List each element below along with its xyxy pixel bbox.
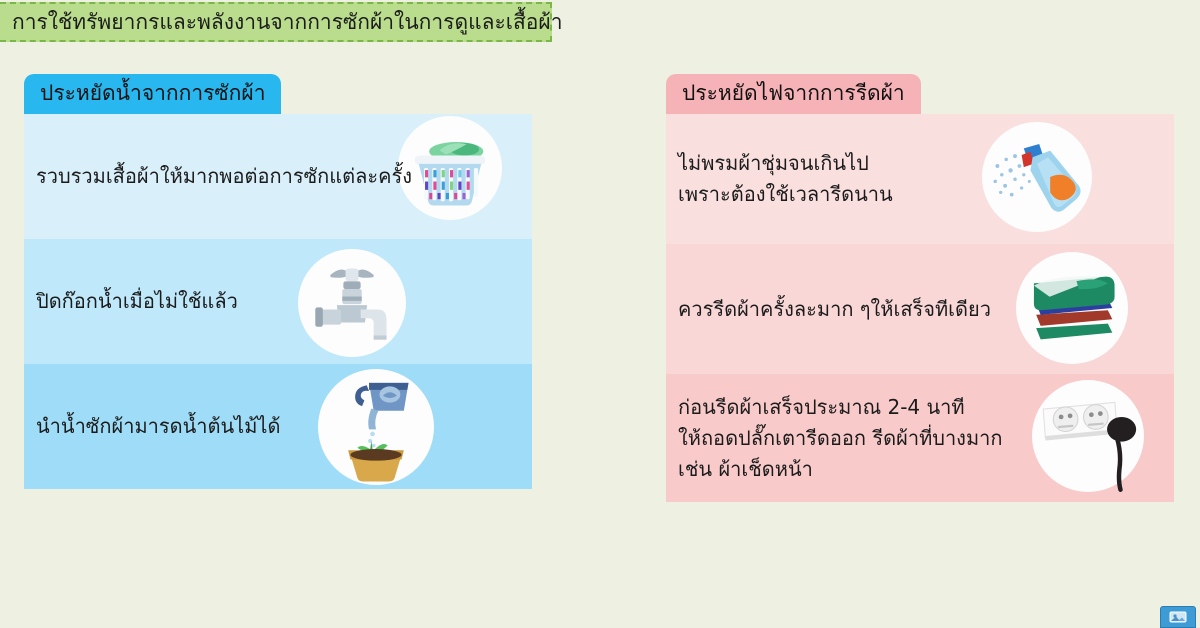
folded-clothes-glyph [1016,252,1128,364]
faucet-glyph [298,249,406,357]
watering-can-plant-glyph [318,369,434,485]
table-row: ไม่พรมผ้าชุ่มจนเกินไป เพราะต้องใช้เวลารี… [666,114,1174,244]
panel-water-tab: ประหยัดน้ำจากการซักผ้า [24,74,281,114]
table-row: ปิดก๊อกน้ำเมื่อไม่ใช้แล้ว [24,239,532,364]
row-text: ก่อนรีดผ้าเสร็จประมาณ 2-4 นาที ให้ถอดปลั… [666,392,1002,485]
row-text: ไม่พรมผ้าชุ่มจนเกินไป เพราะต้องใช้เวลารี… [666,148,893,210]
power-plug-socket-icon [1032,380,1144,492]
laundry-basket-glyph [398,116,502,220]
page-title: การใช้ทรัพยากรและพลังงานจากการซักผ้าในกา… [0,12,562,33]
faucet-icon [298,249,406,357]
folded-clothes-icon [1016,252,1128,364]
row-text: ปิดก๊อกน้ำเมื่อไม่ใช้แล้ว [24,286,238,317]
table-row: ควรรีดผ้าครั้งละมาก ๆให้เสร็จทีเดียว [666,244,1174,374]
watering-can-plant-icon [318,369,434,485]
row-text: รวบรวมเสื้อผ้าให้มากพอต่อการซักแต่ละครั้… [24,161,412,192]
table-row: นำน้ำซักผ้ามารดน้ำต้นไม้ได้ [24,364,532,489]
panel-iron-body: ไม่พรมผ้าชุ่มจนเกินไป เพราะต้องใช้เวลารี… [666,114,1174,502]
row-text: นำน้ำซักผ้ามารดน้ำต้นไม้ได้ [24,411,280,442]
panel-iron-tab: ประหยัดไฟจากการรีดผ้า [666,74,921,114]
laundry-basket-icon [398,116,502,220]
image-placeholder-icon[interactable] [1160,606,1196,628]
panel-water-body: รวบรวมเสื้อผ้าให้มากพอต่อการซักแต่ละครั้… [24,114,532,489]
page-title-bar: การใช้ทรัพยากรและพลังงานจากการซักผ้าในกา… [0,2,552,42]
picture-glyph [1169,611,1187,623]
spray-bottle-icon [982,122,1092,232]
row-text: ควรรีดผ้าครั้งละมาก ๆให้เสร็จทีเดียว [666,294,991,325]
panel-water-saving: ประหยัดน้ำจากการซักผ้า รวบรวมเสื้อผ้าให้… [24,74,532,489]
table-row: รวบรวมเสื้อผ้าให้มากพอต่อการซักแต่ละครั้… [24,114,532,239]
table-row: ก่อนรีดผ้าเสร็จประมาณ 2-4 นาที ให้ถอดปลั… [666,374,1174,502]
spray-bottle-glyph [982,122,1092,232]
power-plug-socket-glyph [1032,380,1144,492]
panel-electricity-saving: ประหยัดไฟจากการรีดผ้า ไม่พรมผ้าชุ่มจนเกิ… [666,74,1174,502]
